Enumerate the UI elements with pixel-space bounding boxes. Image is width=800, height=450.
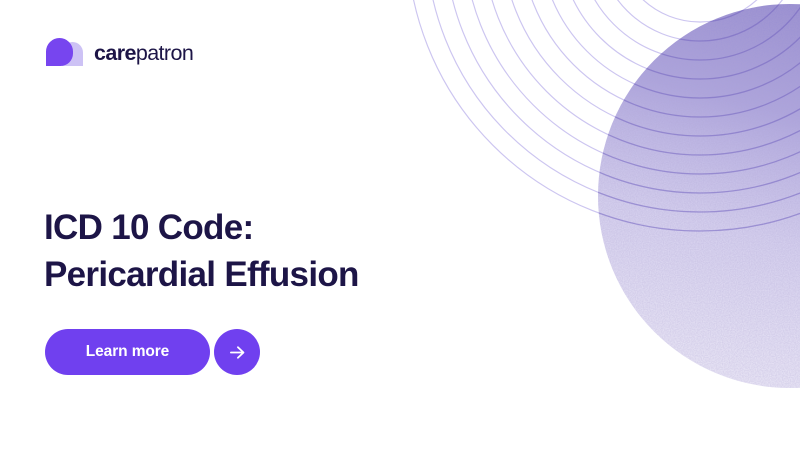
decor-orb [598,4,800,388]
headline-line-1: ICD 10 Code: [44,205,474,251]
page-title: ICD 10 Code: Pericardial Effusion [44,205,474,297]
concentric-rings-outer [407,0,800,231]
cta-group: Learn more [45,329,260,375]
learn-more-button[interactable]: Learn more [45,329,210,375]
carepatron-logo-mark-icon [44,36,84,70]
concentric-rings-inner [407,0,800,231]
wordmark-care: care [94,41,136,65]
carepatron-wordmark: carepatron [94,43,193,65]
icd-code-banner: carepatron ICD 10 Code: Pericardial Effu… [0,0,800,450]
wordmark-patron: patron [136,41,193,65]
learn-more-arrow-button[interactable] [214,329,260,375]
arrow-right-icon [227,342,248,363]
carepatron-logo[interactable]: carepatron [44,33,193,73]
headline-line-2: Pericardial Effusion [44,252,474,298]
